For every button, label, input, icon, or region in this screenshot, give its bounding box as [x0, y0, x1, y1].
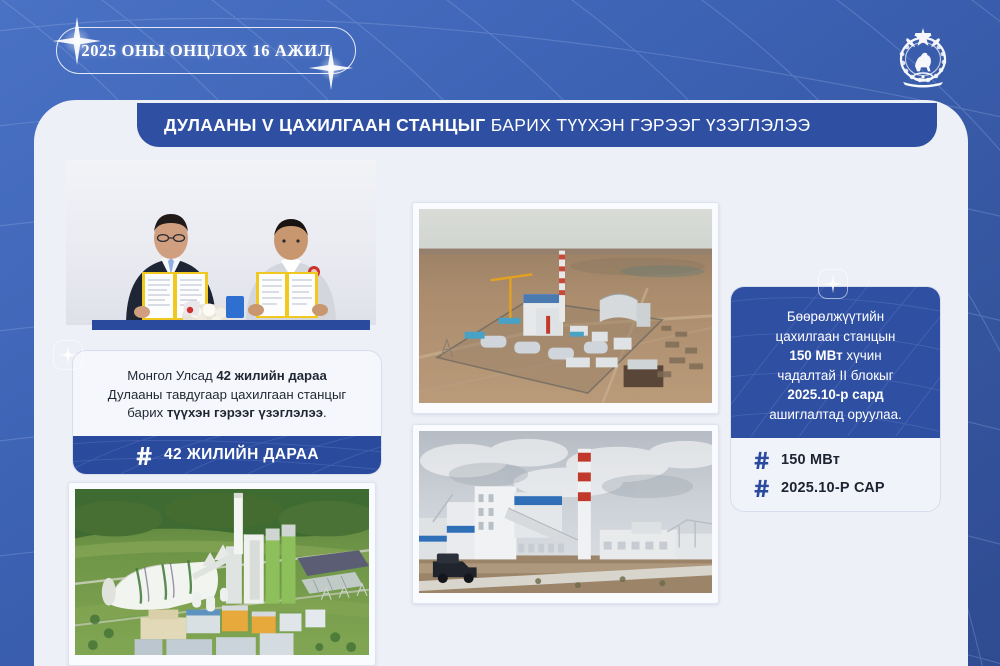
right-info-card: Бөөрөлжүүтийн цахилгаан станцын 150 МВт …	[730, 286, 941, 512]
main-title-banner: ДУЛААНЫ V ЦАХИЛГААН СТАНЦЫГ БАРИХ ТҮҮХЭН…	[137, 103, 937, 147]
signing-ceremony-photo	[66, 160, 376, 325]
ground-power-plant-photo	[412, 424, 719, 604]
green-plant-render-photo	[68, 482, 376, 666]
stat-row: 2025.10-Р САР	[753, 478, 930, 497]
right-card-line3-plain: хүчин	[843, 348, 882, 363]
left-card-line3-end: .	[323, 405, 327, 420]
star-badge-right	[818, 269, 848, 299]
left-card-line3-bold: түүхэн гэрээг үзэглэлээ	[167, 405, 323, 420]
right-card-line6: ашиглалтад оруулаа.	[769, 407, 902, 422]
stat-label: 150 МВт	[781, 452, 840, 468]
right-card-line1: Бөөрөлжүүтийн	[787, 309, 884, 324]
page-title: ДУЛААНЫ V ЦАХИЛГААН СТАНЦЫГ БАРИХ ТҮҮХЭН…	[164, 115, 810, 136]
star-icon	[823, 274, 843, 294]
page-title-normal: БАРИХ ТҮҮХЭН ГЭРЭЭГ ҮЗЭГЛЭЛЭЭ	[486, 115, 811, 135]
right-card-line3-bold: 150 МВт	[789, 348, 842, 363]
left-card-line3-plain: барих	[127, 405, 167, 420]
left-card-line1-plain: Монгол Улсад	[127, 368, 216, 383]
left-card-tag-bar: 42 ЖИЛИЙН ДАРАА	[73, 436, 381, 474]
photo-underline-bar	[92, 320, 370, 330]
star-badge-left	[53, 340, 83, 370]
right-card-stats: 150 МВт 2025.10-Р САР	[731, 438, 940, 511]
hash-icon	[753, 478, 772, 497]
right-card-line4: чадалтай II блокыг	[777, 368, 893, 383]
star-icon	[58, 345, 78, 365]
mongolia-state-emblem-icon	[895, 26, 951, 88]
hash-icon	[753, 450, 772, 469]
infographic-slide: 2025 ОНЫ ОНЦЛОХ 16 АЖИЛ	[0, 0, 1000, 666]
left-card-text: Монгол Улсад 42 жилийн дараа Дулааны тав…	[73, 351, 381, 436]
left-card-tag-label: 42 ЖИЛИЙН ДАРАА	[164, 446, 319, 464]
stat-label: 2025.10-Р САР	[781, 480, 885, 496]
header-pill-label: 2025 ОНЫ ОНЦЛОХ 16 АЖИЛ	[81, 41, 330, 61]
stat-row: 150 МВт	[753, 450, 930, 469]
right-card-line2: цахилгаан станцын	[776, 329, 896, 344]
right-card-text: Бөөрөлжүүтийн цахилгаан станцын 150 МВт …	[731, 287, 940, 438]
right-card-line5-bold: 2025.10-р сард	[787, 387, 883, 402]
left-card-line2: Дулааны тавдугаар цахилгаан станцыг	[108, 387, 347, 402]
left-card-line1-bold: 42 жилийн дараа	[216, 368, 326, 383]
header-pill: 2025 ОНЫ ОНЦЛОХ 16 АЖИЛ	[56, 27, 356, 74]
hash-icon	[135, 445, 155, 465]
page-title-bold: ДУЛААНЫ V ЦАХИЛГААН СТАНЦЫГ	[164, 115, 486, 135]
left-info-card: Монгол Улсад 42 жилийн дараа Дулааны тав…	[72, 350, 382, 475]
aerial-power-plant-photo	[412, 202, 719, 414]
